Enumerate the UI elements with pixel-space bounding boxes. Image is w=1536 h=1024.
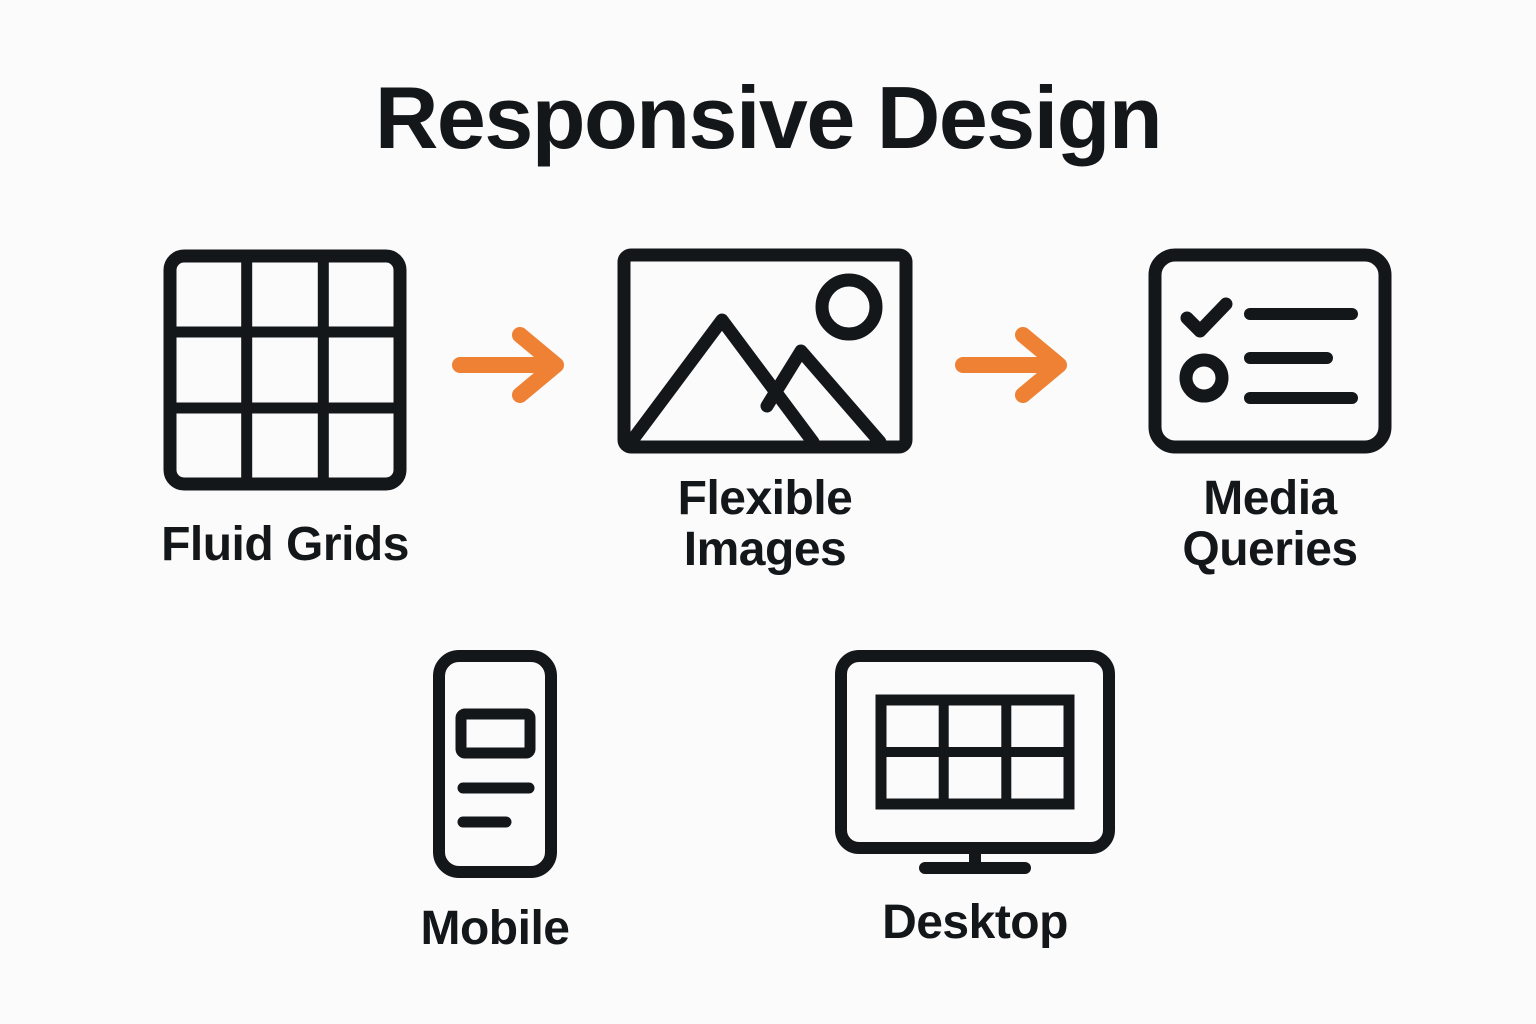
node-desktop: Desktop — [790, 648, 1160, 949]
node-label-media-queries: Media Queries — [1182, 474, 1357, 576]
mobile-phone-icon — [405, 648, 585, 880]
node-flexible-images: Flexible Images — [600, 246, 930, 576]
node-label-desktop: Desktop — [882, 898, 1068, 949]
checklist-icon — [1146, 246, 1394, 456]
page-title: Responsive Design — [0, 72, 1536, 164]
arrow-right-icon — [452, 325, 572, 405]
diagram-canvas: Responsive Design Fluid Grids — [0, 0, 1536, 1024]
node-media-queries: Media Queries — [1105, 246, 1435, 576]
node-fluid-grids: Fluid Grids — [120, 246, 450, 571]
image-mountain-icon — [615, 246, 915, 456]
node-mobile: Mobile — [340, 648, 650, 955]
grid-3x3-icon — [160, 246, 410, 494]
node-label-mobile: Mobile — [421, 904, 570, 955]
node-label-fluid-grids: Fluid Grids — [161, 520, 409, 571]
desktop-monitor-icon — [815, 648, 1135, 876]
node-label-flexible-images: Flexible Images — [678, 474, 853, 576]
arrow-right-icon — [955, 325, 1075, 405]
